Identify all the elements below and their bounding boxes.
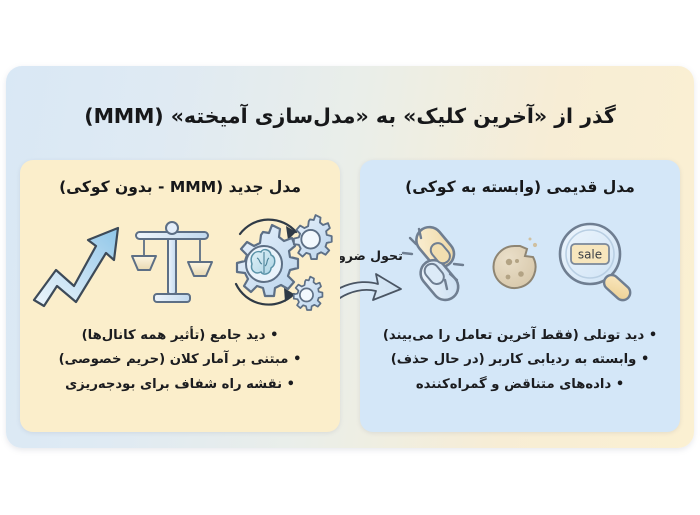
panel-new-model-title: مدل جدید (MMM - بدون کوکی) [20, 178, 340, 196]
panel-new-model-icon-row [20, 210, 340, 314]
panel-old-model: مدل قدیمی (وابسته به کوکی) [360, 160, 680, 432]
panel-old-model-icon-row: sale [360, 210, 680, 314]
gear-brain-icon [218, 212, 330, 312]
list-item-label: مبتنی بر آمار کلان (حریم خصوصی) [59, 352, 289, 367]
list-item-label: داده‌های متناقض و گمراه‌کننده [416, 377, 611, 392]
bullet-marker: • [293, 352, 301, 367]
page-title: گذر از «آخرین کلیک» به «مدل‌سازی آمیخته»… [6, 104, 694, 128]
list-item-label: دید جامع (تأثیر همه کانال‌ها) [82, 328, 266, 343]
list-item: • وابسته به ردیابی کاربر (در حال حذف) [376, 348, 664, 372]
list-item-label: نقشه راه شفاف برای بودجه‌ریزی [65, 377, 282, 392]
transition-zone: تحول ضروری [344, 160, 378, 432]
bullet-marker: • [641, 352, 649, 367]
gear-small-icon [294, 277, 323, 310]
list-item: • داده‌های متناقض و گمراه‌کننده [376, 373, 664, 397]
magnifier-sale-icon: sale [546, 214, 652, 310]
list-item: • مبتنی بر آمار کلان (حریم خصوصی) [36, 348, 324, 372]
bullet-marker: • [287, 377, 295, 392]
list-item-label: وابسته به ردیابی کاربر (در حال حذف) [391, 352, 637, 367]
list-item: • دید تونلی (فقط آخرین تعامل را می‌بیند) [376, 324, 664, 348]
growth-arrow-icon [30, 212, 126, 312]
list-item: • دید جامع (تأثیر همه کانال‌ها) [36, 324, 324, 348]
bullet-marker: • [270, 328, 278, 343]
panel-new-model-bullets: • دید جامع (تأثیر همه کانال‌ها) • مبتنی … [20, 324, 340, 397]
svg-text:sale: sale [578, 248, 602, 262]
list-item: • نقشه راه شفاف برای بودجه‌ریزی [36, 373, 324, 397]
panel-new-model: مدل جدید (MMM - بدون کوکی) [20, 160, 340, 432]
infographic-card: گذر از «آخرین کلیک» به «مدل‌سازی آمیخته»… [6, 66, 694, 448]
balance-scale-icon [130, 212, 214, 312]
bullet-marker: • [649, 328, 657, 343]
panel-old-model-title: مدل قدیمی (وابسته به کوکی) [360, 178, 680, 196]
list-item-label: دید تونلی (فقط آخرین تعامل را می‌بیند) [383, 328, 644, 343]
panel-old-model-bullets: • دید تونلی (فقط آخرین تعامل را می‌بیند)… [360, 324, 680, 397]
cookie-icon [488, 214, 542, 310]
bullet-marker: • [616, 377, 624, 392]
